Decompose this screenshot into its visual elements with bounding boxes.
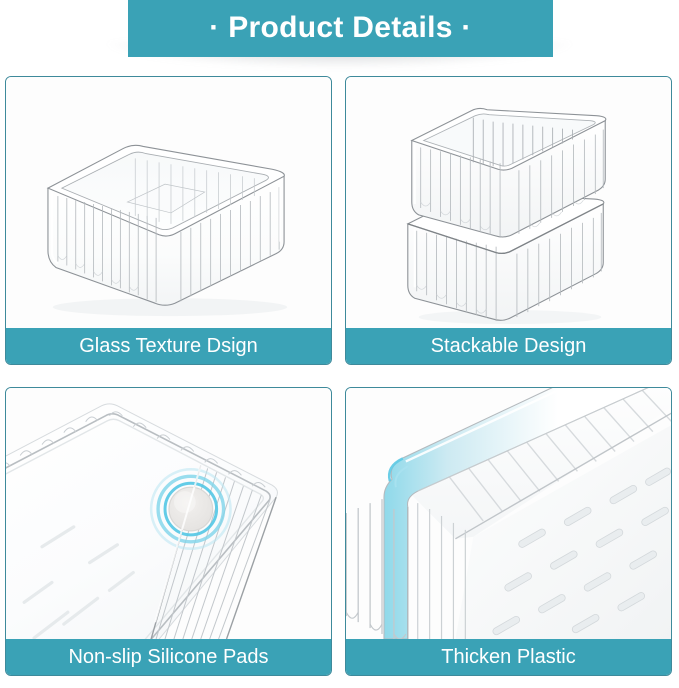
product-image-glass-texture	[6, 77, 331, 328]
stacked-bins-illustration	[346, 77, 671, 328]
card-label-stackable: Stackable Design	[346, 328, 671, 364]
card-label-text: Stackable Design	[431, 336, 587, 357]
feature-card-silicone-pads: Non-slip Silicone Pads	[5, 387, 332, 676]
single-bin-illustration	[6, 77, 331, 328]
card-label-thicken-plastic: Thicken Plastic	[346, 639, 671, 675]
feature-card-thicken-plastic: Thicken Plastic	[345, 387, 672, 676]
product-image-thicken-plastic	[346, 388, 671, 639]
page-header: · Product Details ·	[0, 0, 679, 76]
product-image-stackable	[346, 77, 671, 328]
card-label-text: Thicken Plastic	[441, 647, 576, 668]
thick-rim-illustration	[346, 388, 671, 639]
page-title: · Product Details ·	[209, 13, 471, 45]
silicone-pad-illustration	[6, 388, 331, 639]
feature-card-glass-texture: Glass Texture Dsign	[5, 76, 332, 365]
header-banner: · Product Details ·	[128, 0, 553, 57]
card-label-glass-texture: Glass Texture Dsign	[6, 328, 331, 364]
card-label-text: Glass Texture Dsign	[79, 336, 258, 357]
card-label-silicone-pads: Non-slip Silicone Pads	[6, 639, 331, 675]
product-details-grid: Glass Texture Dsign	[5, 76, 674, 688]
product-image-silicone-pads	[6, 388, 331, 639]
feature-card-stackable: Stackable Design	[345, 76, 672, 365]
card-label-text: Non-slip Silicone Pads	[68, 647, 268, 668]
